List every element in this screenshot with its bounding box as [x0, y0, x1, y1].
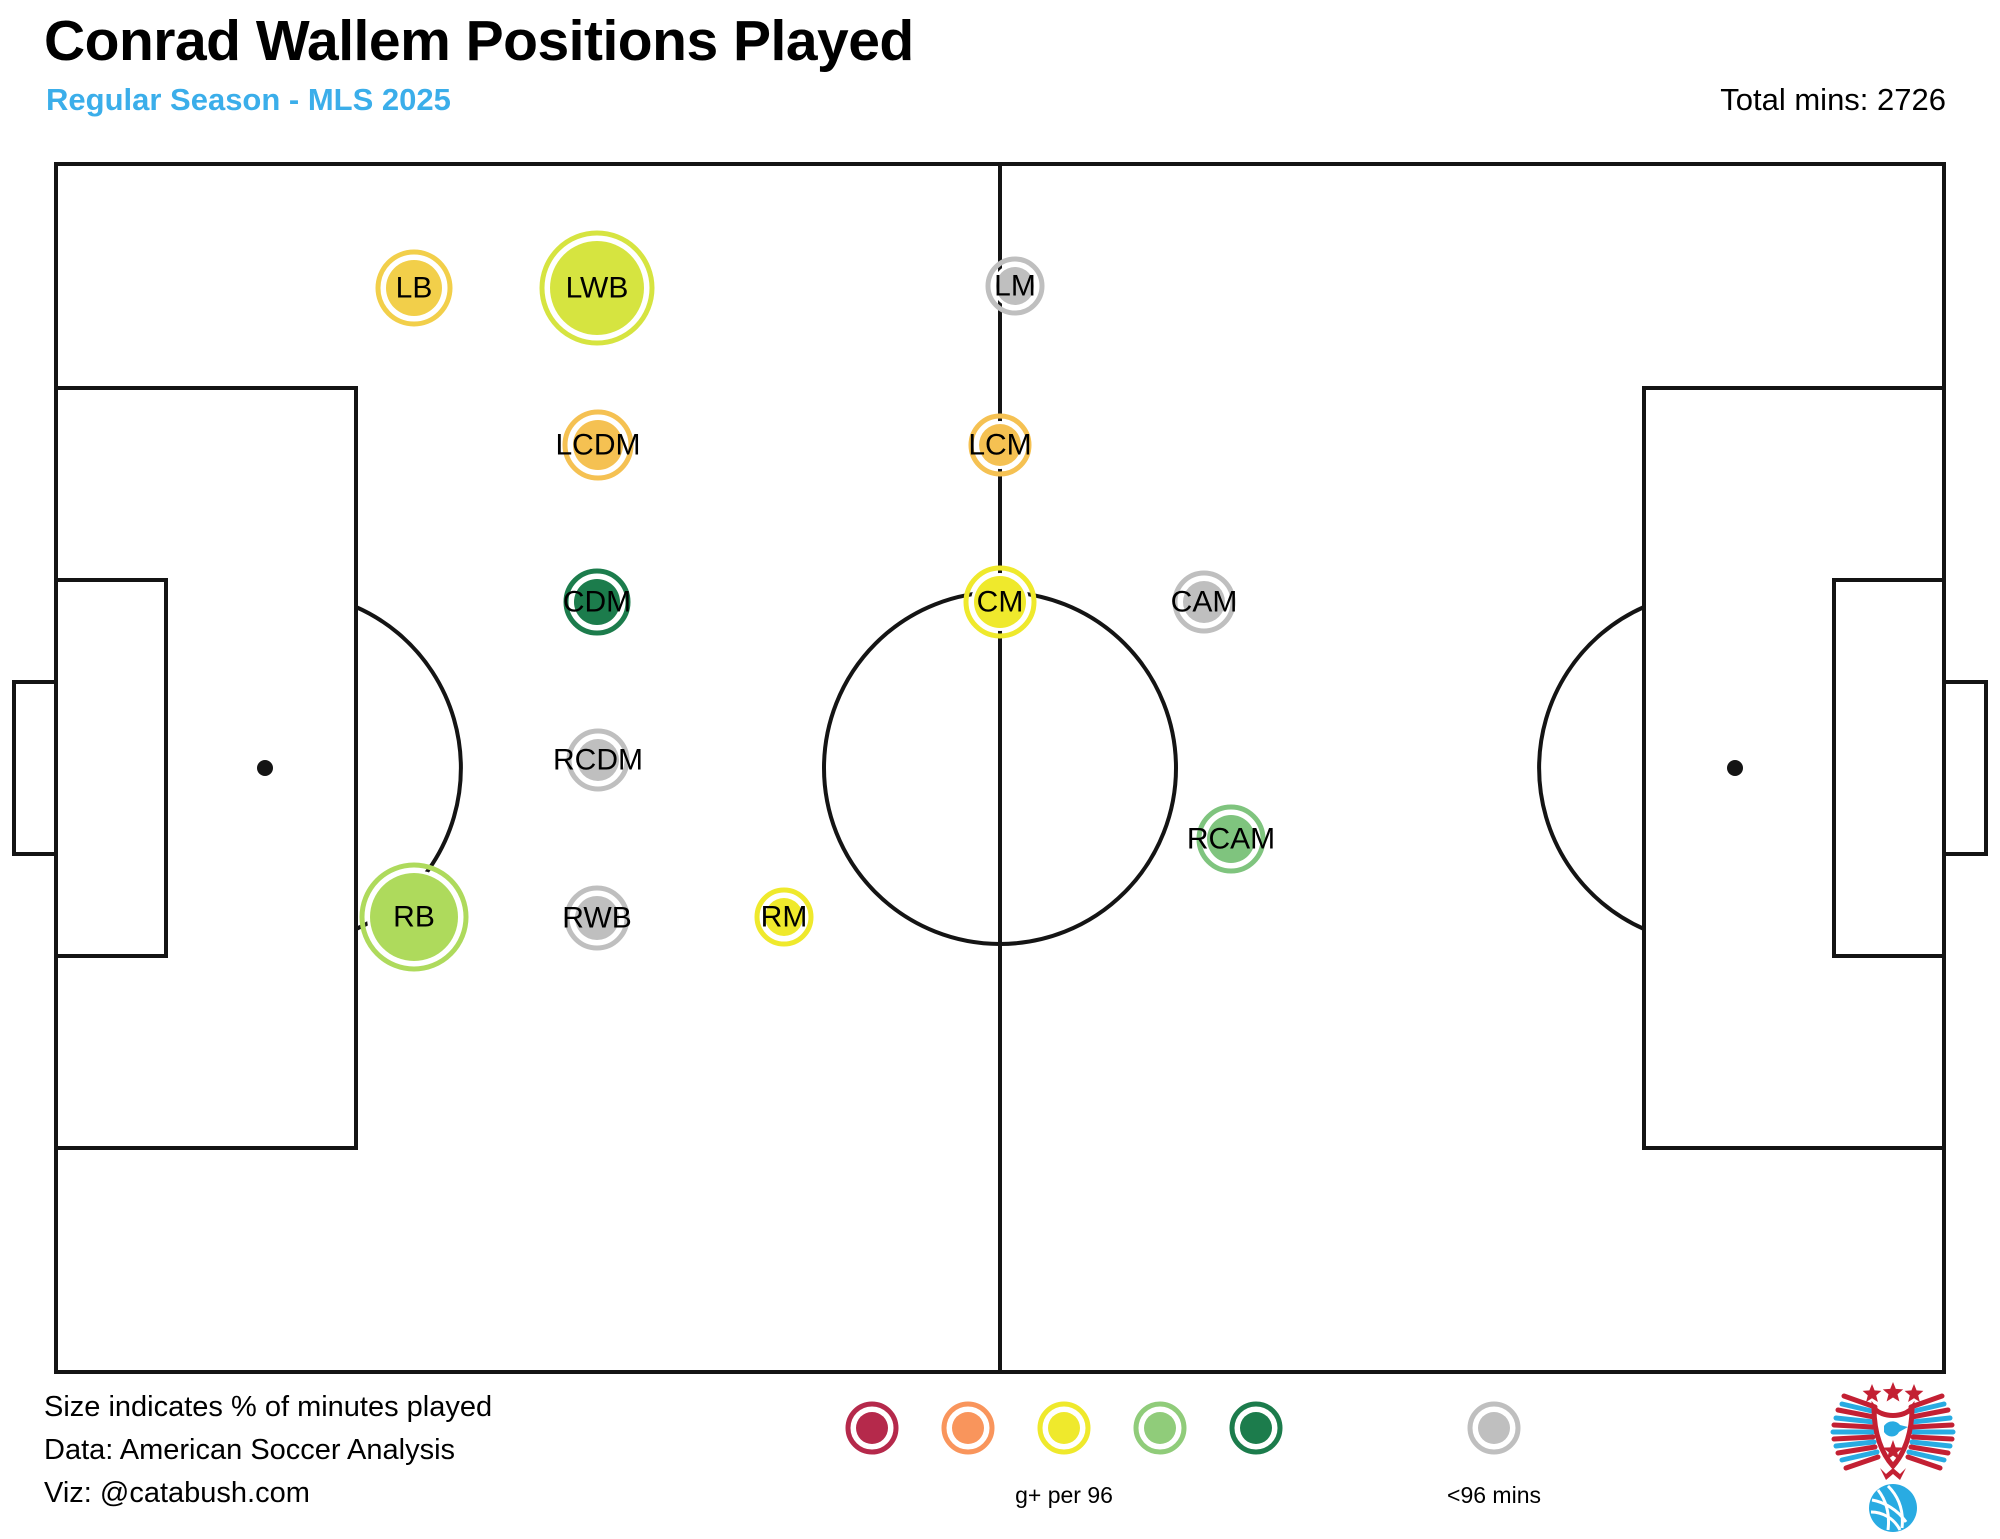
- marker-label: RWB: [562, 902, 631, 935]
- marker-label: RCAM: [1187, 823, 1275, 856]
- legend-under96-label: <96 mins: [1447, 1482, 1541, 1509]
- legend-gplus-label: g+ per 96: [1015, 1482, 1113, 1509]
- positions-played-visualization: Conrad Wallem Positions Played Regular S…: [0, 0, 2000, 1539]
- marker-label: LM: [994, 270, 1036, 303]
- legend-swatch-crimson: [848, 1404, 896, 1452]
- soccer-ball-icon: [1869, 1484, 1917, 1532]
- swatch-fill: [1144, 1412, 1176, 1444]
- legend-swatch-yellow: [1040, 1404, 1088, 1452]
- marker-label: RM: [761, 901, 808, 934]
- position-marker-left-back[interactable]: LB: [378, 252, 450, 324]
- position-marker-right-midfield[interactable]: RM: [757, 890, 811, 944]
- left-goal: [14, 682, 56, 854]
- position-marker-left-central-midfield[interactable]: LCM: [968, 416, 1031, 474]
- position-marker-central-defensive-midfield[interactable]: CDM: [563, 571, 631, 633]
- position-marker-left-wing-back[interactable]: LWB: [542, 233, 652, 343]
- marker-label: LB: [396, 272, 433, 305]
- eagle-stars: [1863, 1382, 1924, 1402]
- swatch-fill: [952, 1412, 984, 1444]
- eagle-body: [1874, 1408, 1912, 1480]
- position-marker-central-midfield[interactable]: CM: [966, 568, 1034, 636]
- marker-label: CM: [977, 586, 1024, 619]
- right-penalty-spot: [1727, 760, 1743, 776]
- position-marker-central-attacking-midfield[interactable]: CAM: [1171, 573, 1238, 631]
- legend-swatch-light-green: [1136, 1404, 1184, 1452]
- marker-label: CDM: [563, 586, 631, 619]
- right-goal: [1944, 682, 1986, 854]
- data-source-note: Data: American Soccer Analysis: [44, 1429, 492, 1472]
- swatch-fill: [1240, 1412, 1272, 1444]
- swatch-fill: [856, 1412, 888, 1444]
- legend-swatch-gray: [1470, 1404, 1518, 1452]
- footnotes: Size indicates % of minutes played Data:…: [44, 1386, 492, 1515]
- position-marker-right-wing-back[interactable]: RWB: [562, 888, 631, 948]
- left-penalty-spot: [257, 760, 273, 776]
- pitch-chart: LBLWBLMLCDMLCMCDMCMCAMRCDMRCAMRBRWBRM: [0, 0, 2000, 1539]
- position-marker-left-midfield[interactable]: LM: [988, 259, 1042, 313]
- pitch-markings: [14, 164, 1986, 1372]
- american-soccer-analysis-logo: [1828, 1382, 1958, 1532]
- swatch-fill: [1478, 1412, 1510, 1444]
- marker-label: LCDM: [555, 429, 640, 462]
- marker-label: RB: [393, 901, 435, 934]
- viz-credit-note: Viz: @catabush.com: [44, 1472, 492, 1515]
- legend-swatch-orange: [944, 1404, 992, 1452]
- legend-swatch-dark-green: [1232, 1404, 1280, 1452]
- marker-label: LWB: [566, 272, 629, 305]
- size-note: Size indicates % of minutes played: [44, 1386, 492, 1429]
- marker-label: CAM: [1171, 586, 1238, 619]
- legend-swatches-group: [848, 1404, 1518, 1452]
- marker-label: LCM: [968, 429, 1031, 462]
- marker-label: RCDM: [553, 744, 643, 777]
- position-marker-right-back[interactable]: RB: [362, 865, 466, 969]
- swatch-fill: [1048, 1412, 1080, 1444]
